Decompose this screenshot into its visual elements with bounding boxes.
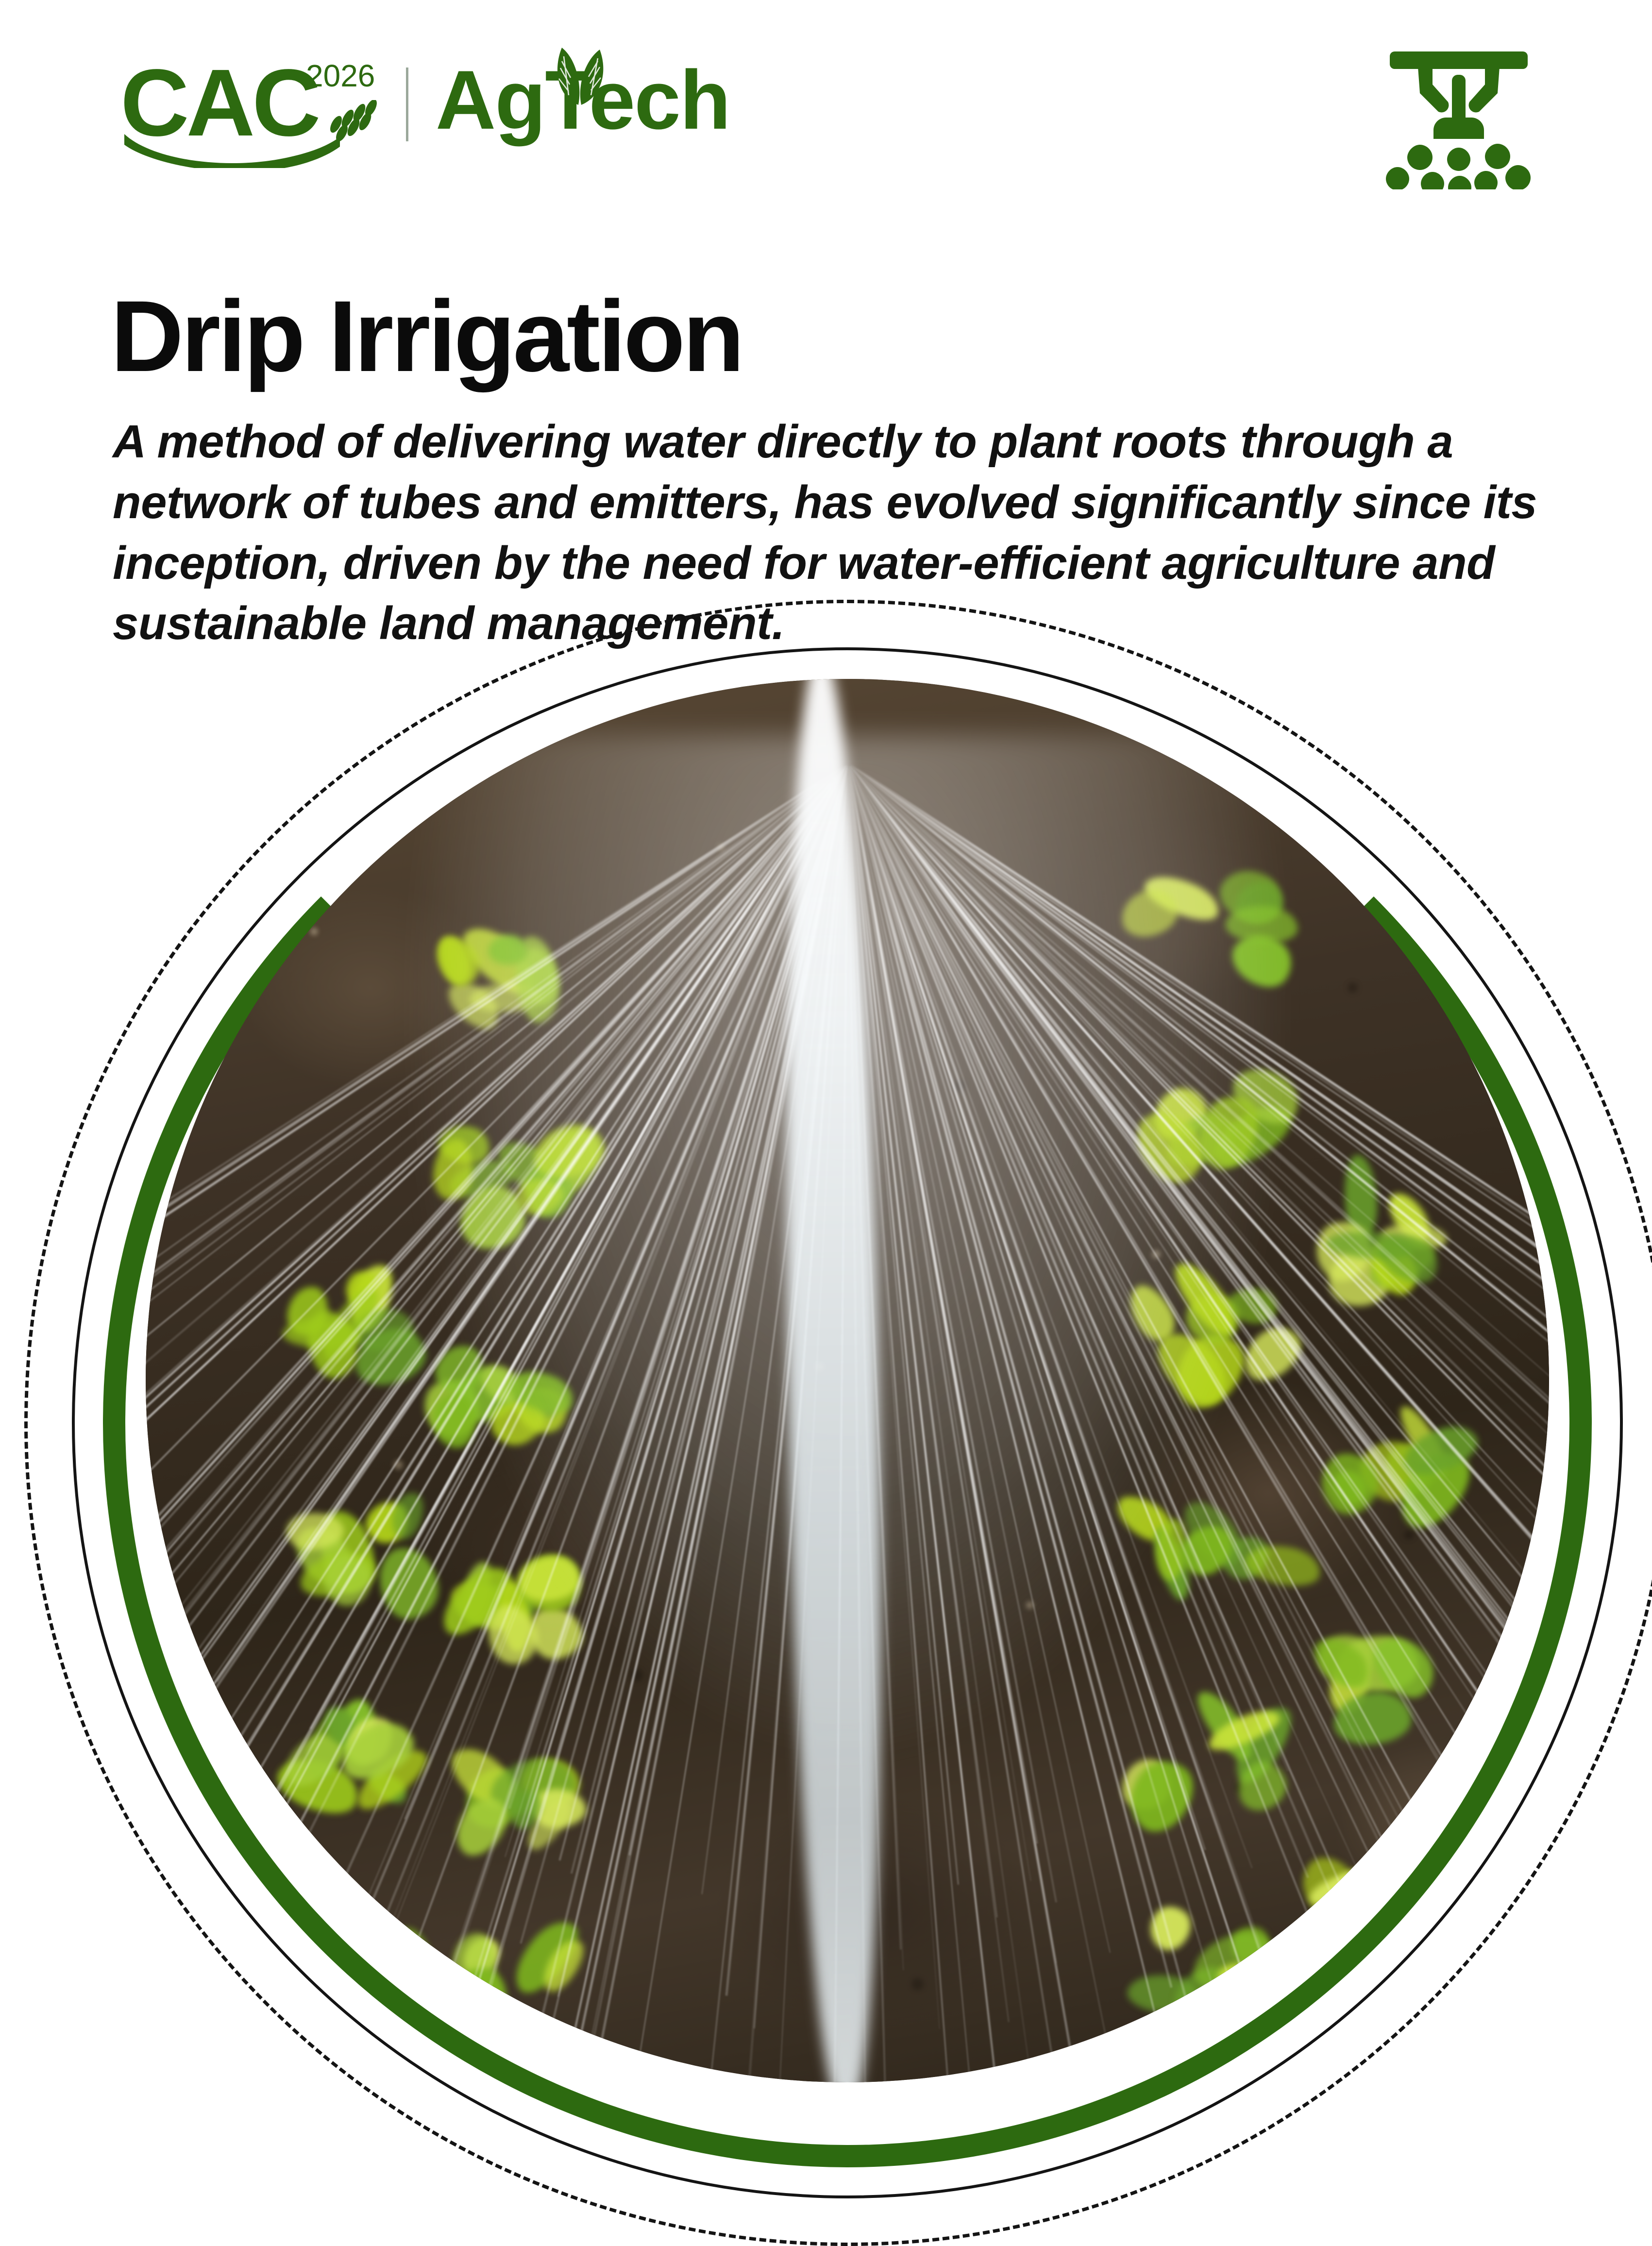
wheat-sprig-icon bbox=[317, 100, 385, 153]
spray-ray bbox=[305, 762, 849, 1838]
spray-ray bbox=[217, 763, 848, 1683]
agtech-logo: AgTech bbox=[436, 53, 708, 155]
spray-ray bbox=[847, 763, 1470, 1982]
cac-year-superscript: 2026 bbox=[306, 60, 375, 91]
brand-logo[interactable]: CAC 2026 bbox=[120, 53, 708, 155]
spray-ray bbox=[847, 763, 1429, 1980]
spray-ray bbox=[848, 762, 1549, 1828]
irrigation-photo bbox=[146, 679, 1549, 2082]
spray-ray bbox=[847, 763, 1549, 1501]
spray-ray bbox=[146, 762, 849, 1925]
page-subtitle: A method of delivering water directly to… bbox=[113, 412, 1565, 654]
page-header: CAC 2026 bbox=[0, 0, 1652, 209]
spray-ray bbox=[146, 762, 849, 2082]
spray-ray bbox=[847, 762, 1549, 1588]
page-title: Drip Irrigation bbox=[111, 286, 742, 387]
photo-inner bbox=[146, 679, 1549, 2082]
cac-logo: CAC 2026 bbox=[120, 53, 392, 155]
sprout-leaves-icon bbox=[538, 37, 620, 110]
sprinkler-icon bbox=[1386, 49, 1532, 189]
swoosh-underline-icon bbox=[123, 130, 342, 168]
spray-ray bbox=[146, 762, 849, 1969]
logo-divider bbox=[406, 68, 408, 141]
spray-ray bbox=[146, 763, 849, 2082]
spray-ray bbox=[387, 763, 848, 1934]
spray-ray bbox=[175, 762, 849, 1913]
